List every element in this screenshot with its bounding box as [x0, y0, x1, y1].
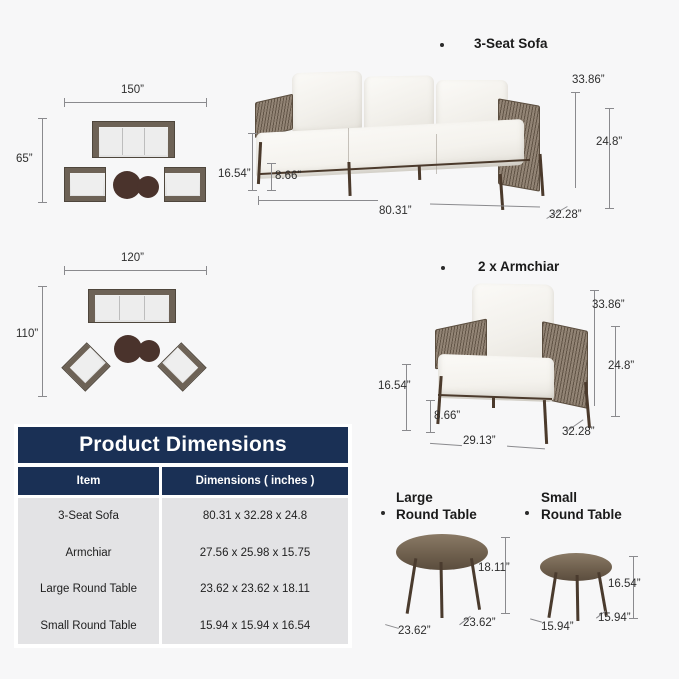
- small-table-dim-diameter-right: 15.94”: [598, 612, 631, 624]
- sofa-dim-depth: 32.28”: [549, 209, 582, 221]
- plan-sofa-arm-left: [93, 122, 99, 157]
- sofa-dim-clearance: 8.66”: [275, 170, 301, 182]
- small-table-dim-diameter-left: 15.94”: [541, 621, 574, 633]
- sofa-dim-cap-back-top: [571, 92, 580, 93]
- table-row: Small Round Table: [18, 608, 159, 645]
- product-dimensions-title: Product Dimensions: [18, 427, 348, 463]
- small-table-heading-line2: Round Table: [541, 507, 622, 522]
- plan-armchair-right-arm-top: [165, 168, 205, 173]
- sofa-dim-cap-clear-top: [267, 163, 276, 164]
- armchair-dim-arm-height: 24.8”: [608, 360, 634, 372]
- sofa-heading: 3-Seat Sofa: [474, 36, 548, 51]
- plan-sofa-seat: [100, 128, 167, 155]
- armchair-dim-cap-back-top: [590, 290, 599, 291]
- sofa-dim-cap-arm-top: [605, 108, 614, 109]
- sofa-dim-line-arm-height: [609, 108, 610, 208]
- sofa-dim-arm-height: 24.8”: [596, 136, 622, 148]
- small-table-dim-height: 16.54”: [608, 578, 641, 590]
- small-table-leg-3: [597, 572, 607, 616]
- armchair-dim-back-height: 33.86”: [592, 299, 625, 311]
- plan-sofa-back: [93, 122, 174, 127]
- large-table-heading-line2: Round Table: [396, 507, 477, 522]
- sofa-dim-line-seat-height: [252, 133, 253, 190]
- sofa-dim-cap-arm-bottom: [605, 208, 614, 209]
- armchair-dim-clearance: 8.66”: [434, 410, 460, 422]
- table-row: 27.56 x 25.98 x 15.75: [162, 535, 348, 572]
- sofa-dim-cap-seat-bottom: [248, 190, 257, 191]
- table-row: 15.94 x 15.94 x 16.54: [162, 608, 348, 645]
- dim-line-width-150: [64, 102, 206, 103]
- table-row: 3-Seat Sofa: [18, 498, 159, 535]
- plan-sofa-arm-right: [168, 122, 174, 157]
- dim-cap-right-150: [206, 98, 207, 107]
- armchair-dim-line-seat-height: [406, 364, 407, 430]
- sofa-dim-cap-clear-bottom: [267, 190, 276, 191]
- dim-line-width-120: [64, 270, 206, 271]
- sofa-dim-cap-width-left: [258, 196, 259, 205]
- large-table-dim-diameter-left: 23.62”: [398, 625, 431, 637]
- plan-armchair-left-seat: [71, 174, 103, 195]
- plan-armchair-right-2: [157, 342, 206, 391]
- sofa-seat-divider-2: [436, 134, 437, 174]
- plan-armchair-right-seat: [167, 174, 199, 195]
- plan-sofa-2-arm-left: [89, 290, 95, 322]
- large-table-bullet-icon: [381, 511, 385, 515]
- dim-line-depth-65: [42, 118, 43, 202]
- plan-armchair-left: [64, 167, 106, 202]
- armchair-dim-line-width: [430, 443, 462, 446]
- dim-cap-left-120: [64, 266, 65, 275]
- product-dimensions-table: Product Dimensions Item Dimensions ( inc…: [14, 424, 352, 648]
- column-header-dimensions: Dimensions ( inches ): [162, 467, 348, 495]
- plan-sofa: [92, 121, 175, 158]
- product-dimensions-body: 3-Seat Sofa Armchiar Large Round Table S…: [18, 498, 348, 644]
- armchair-dim-cap-clear-bottom: [426, 432, 435, 433]
- dim-cap-top-65: [38, 118, 47, 119]
- layout-diagram-120x110: 120” 110”: [28, 250, 228, 400]
- small-table-leg-2: [576, 575, 579, 621]
- plan-sofa-2-arm-right: [169, 290, 175, 322]
- column-items: 3-Seat Sofa Armchiar Large Round Table S…: [18, 498, 159, 644]
- armchair-dim-cap-seat-top: [402, 364, 411, 365]
- table-row: 23.62 x 23.62 x 18.11: [162, 571, 348, 608]
- table-row: Armchiar: [18, 535, 159, 572]
- large-table-dim-line-height: [505, 537, 506, 613]
- armchair-dim-seat-height: 16.54”: [378, 380, 411, 392]
- sofa-dim-line-clearance: [271, 163, 272, 190]
- sofa-leg-mid-right: [418, 166, 421, 180]
- small-table-leg-1: [547, 572, 557, 618]
- column-dimensions: 80.31 x 32.28 x 24.8 27.56 x 25.98 x 15.…: [162, 498, 348, 644]
- armchair-dim-cap-arm-top: [611, 326, 620, 327]
- plan-small-round-table-2: [138, 340, 160, 362]
- armchair-heading: 2 x Armchiar: [478, 259, 559, 274]
- armchair-bullet-icon: [441, 266, 445, 270]
- armchair-dim-cap-clear-top: [426, 400, 435, 401]
- large-table-dim-height: 18.11”: [478, 562, 510, 574]
- sofa-dim-cap-seat-top: [248, 133, 257, 134]
- layout-depth-label-65: 65”: [16, 153, 33, 165]
- sofa-dim-line-width: [258, 200, 378, 201]
- dim-line-depth-110: [42, 286, 43, 396]
- armchair-dim-cap-seat-bottom: [402, 430, 411, 431]
- large-table-dim-cap-top: [501, 537, 510, 538]
- layout-depth-label-110: 110”: [16, 328, 38, 340]
- layout-width-label-120: 120”: [121, 252, 144, 264]
- dim-cap-top-110: [38, 286, 47, 287]
- sofa-dim-seat-height: 16.54”: [218, 168, 251, 180]
- table-row: 80.31 x 32.28 x 24.8: [162, 498, 348, 535]
- column-header-item: Item: [18, 467, 159, 495]
- infographic-canvas: 150” 65”: [0, 0, 679, 679]
- armchair-dim-cap-arm-bottom: [611, 416, 620, 417]
- plan-armchair-right-arm-bottom: [165, 196, 205, 201]
- sofa-dim-back-height: 33.86”: [572, 74, 605, 86]
- armchair-leg-mid: [492, 396, 495, 408]
- large-table-leg-1: [406, 558, 418, 614]
- sofa-bullet-icon: [440, 43, 444, 47]
- sofa-illustration: [250, 62, 610, 212]
- large-table-leg-2: [440, 562, 444, 618]
- plan-sofa-2-back: [89, 290, 175, 295]
- large-round-table-illustration: [390, 528, 510, 628]
- armchair-dim-line-clearance: [430, 400, 431, 432]
- sofa-dim-line-back-height: [575, 92, 576, 188]
- plan-armchair-left-arm-bottom: [65, 196, 105, 201]
- plan-armchair-left-2: [61, 342, 110, 391]
- small-table-dim-cap-top: [629, 556, 638, 557]
- large-table-heading-line1: Large: [396, 490, 433, 505]
- plan-sofa-2-seat: [96, 296, 168, 320]
- armchair-leg-front-right: [543, 400, 548, 444]
- dim-cap-right-120: [206, 266, 207, 275]
- small-table-heading-line1: Small: [541, 490, 577, 505]
- dim-cap-bottom-65: [38, 202, 47, 203]
- large-table-dim-cap-bottom: [501, 613, 510, 614]
- plan-armchair-right: [164, 167, 206, 202]
- armchair-dim-depth: 32.28”: [562, 426, 595, 438]
- large-table-dim-diameter-right: 23.62”: [463, 617, 496, 629]
- plan-sofa-2: [88, 289, 176, 323]
- dim-cap-left-150: [64, 98, 65, 107]
- plan-small-round-table: [137, 176, 159, 198]
- armchair-dim-line-width-2: [507, 446, 545, 450]
- layout-diagram-150x65: 150” 65”: [28, 88, 228, 206]
- armchair-dim-width: 29.13”: [463, 435, 496, 447]
- sofa-back-cushion-1: [292, 71, 362, 135]
- dim-cap-bottom-110: [38, 396, 47, 397]
- plan-armchair-left-arm-top: [65, 168, 105, 173]
- small-table-bullet-icon: [525, 511, 529, 515]
- product-dimensions-header-row: Item Dimensions ( inches ): [18, 467, 348, 495]
- table-row: Large Round Table: [18, 571, 159, 608]
- sofa-dim-width: 80.31”: [379, 205, 412, 217]
- layout-width-label-150: 150”: [121, 84, 144, 96]
